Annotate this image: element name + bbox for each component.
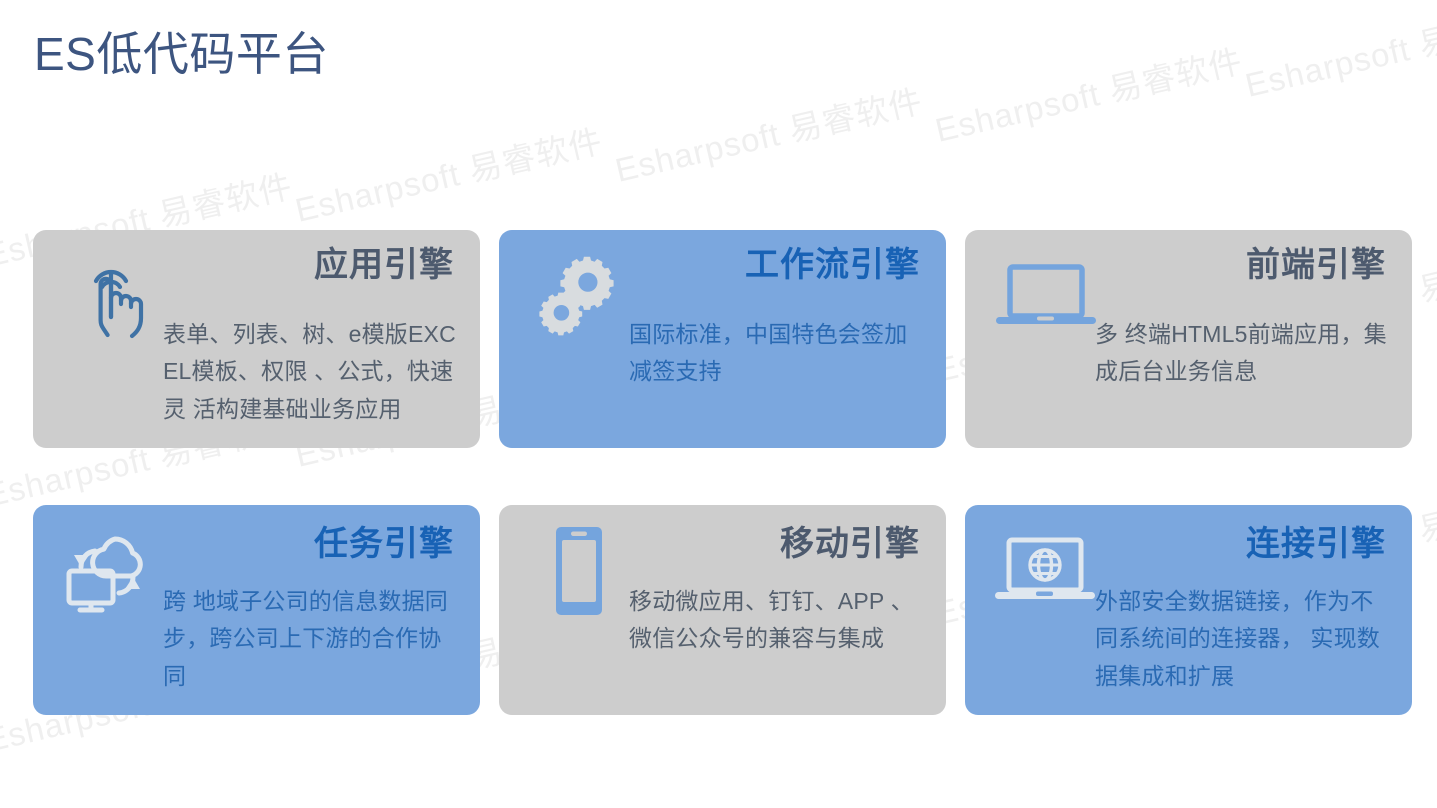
laptop-icon — [991, 244, 1099, 348]
card-inner: 应用引擎 表单、列表、树、e模版EXC EL模板、权限 、公式，快速灵 活构建基… — [33, 230, 480, 448]
card-inner: 任务引擎 跨 地域子公司的信息数据同步，跨公司上下游的合作协同 — [33, 505, 480, 715]
card-description: 国际标准，中国特色会签加减签支持 — [629, 316, 930, 391]
watermark-text: Esharpsoft 易睿软件 — [1240, 0, 1437, 107]
watermark-text: Esharpsoft 易睿软件 — [290, 114, 607, 231]
gears-icon — [525, 244, 633, 348]
card-task-engine[interactable]: 任务引擎 跨 地域子公司的信息数据同步，跨公司上下游的合作协同 — [33, 505, 480, 715]
page-title: ES低代码平台 — [34, 18, 329, 84]
card-description: 跨 地域子公司的信息数据同步，跨公司上下游的合作协同 — [163, 583, 464, 695]
card-description: 多 终端HTML5前端应用，集成后台业务信息 — [1095, 316, 1396, 391]
engine-card-grid: 应用引擎 表单、列表、树、e模版EXC EL模板、权限 、公式，快速灵 活构建基… — [33, 230, 1405, 715]
card-title: 前端引擎 — [1246, 244, 1386, 287]
card-frontend-engine[interactable]: 前端引擎 多 终端HTML5前端应用，集成后台业务信息 — [965, 230, 1412, 448]
watermark-text: Esharpsoft 易睿软件 — [930, 34, 1247, 151]
card-title: 应用引擎 — [314, 244, 454, 287]
card-inner: 前端引擎 多 终端HTML5前端应用，集成后台业务信息 — [965, 230, 1412, 448]
card-workflow-engine[interactable]: 工作流引擎 国际标准，中国特色会签加减签支持 — [499, 230, 946, 448]
card-title: 工作流引擎 — [745, 244, 920, 287]
slide-root: Esharpsoft 易睿软件Esharpsoft 易睿软件Esharpsoft… — [0, 0, 1437, 808]
card-description: 外部安全数据链接，作为不同系统间的连接器， 实现数据集成和扩展 — [1095, 583, 1396, 695]
tap-hand-icon — [59, 244, 167, 348]
cloud-sync-icon — [59, 519, 167, 623]
card-title: 移动引擎 — [780, 523, 920, 566]
smartphone-icon — [525, 519, 633, 623]
card-description: 表单、列表、树、e模版EXC EL模板、权限 、公式，快速灵 活构建基础业务应用 — [163, 316, 464, 428]
card-inner: 移动引擎 移动微应用、钉钉、APP 、微信公众号的兼容与集成 — [499, 505, 946, 715]
laptop-globe-icon — [991, 519, 1099, 623]
card-description: 移动微应用、钉钉、APP 、微信公众号的兼容与集成 — [629, 583, 930, 658]
watermark-text: Esharpsoft 易睿软件 — [610, 74, 927, 191]
card-inner: 连接引擎 外部安全数据链接，作为不同系统间的连接器， 实现数据集成和扩展 — [965, 505, 1412, 715]
card-inner: 工作流引擎 国际标准，中国特色会签加减签支持 — [499, 230, 946, 448]
card-app-engine[interactable]: 应用引擎 表单、列表、树、e模版EXC EL模板、权限 、公式，快速灵 活构建基… — [33, 230, 480, 448]
card-title: 连接引擎 — [1246, 523, 1386, 566]
card-title: 任务引擎 — [314, 523, 454, 566]
card-connect-engine[interactable]: 连接引擎 外部安全数据链接，作为不同系统间的连接器， 实现数据集成和扩展 — [965, 505, 1412, 715]
card-mobile-engine[interactable]: 移动引擎 移动微应用、钉钉、APP 、微信公众号的兼容与集成 — [499, 505, 946, 715]
